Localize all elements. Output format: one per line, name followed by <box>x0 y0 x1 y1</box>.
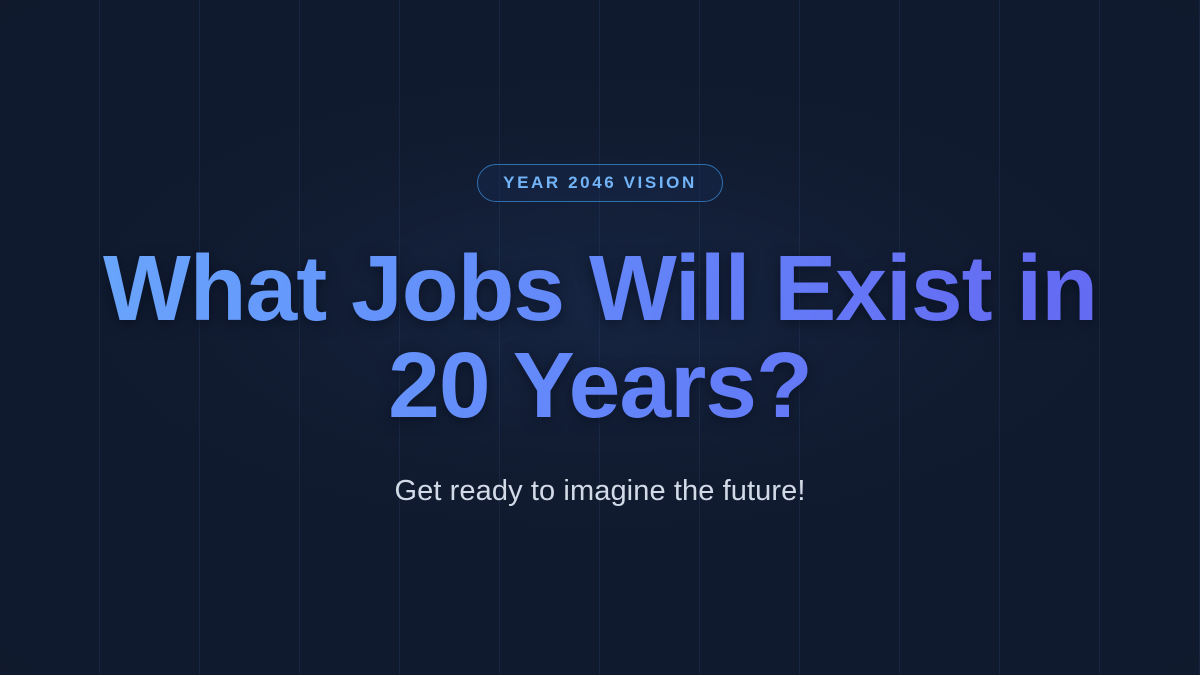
eyebrow-badge: YEAR 2046 VISION <box>477 164 723 202</box>
slide-content: YEAR 2046 VISION What Jobs Will Exist in… <box>0 0 1200 675</box>
page-title: What Jobs Will Exist in 20 Years? <box>45 240 1155 433</box>
subtitle-text: Get ready to imagine the future! <box>394 473 805 511</box>
title-slide: YEAR 2046 VISION What Jobs Will Exist in… <box>0 0 1200 675</box>
